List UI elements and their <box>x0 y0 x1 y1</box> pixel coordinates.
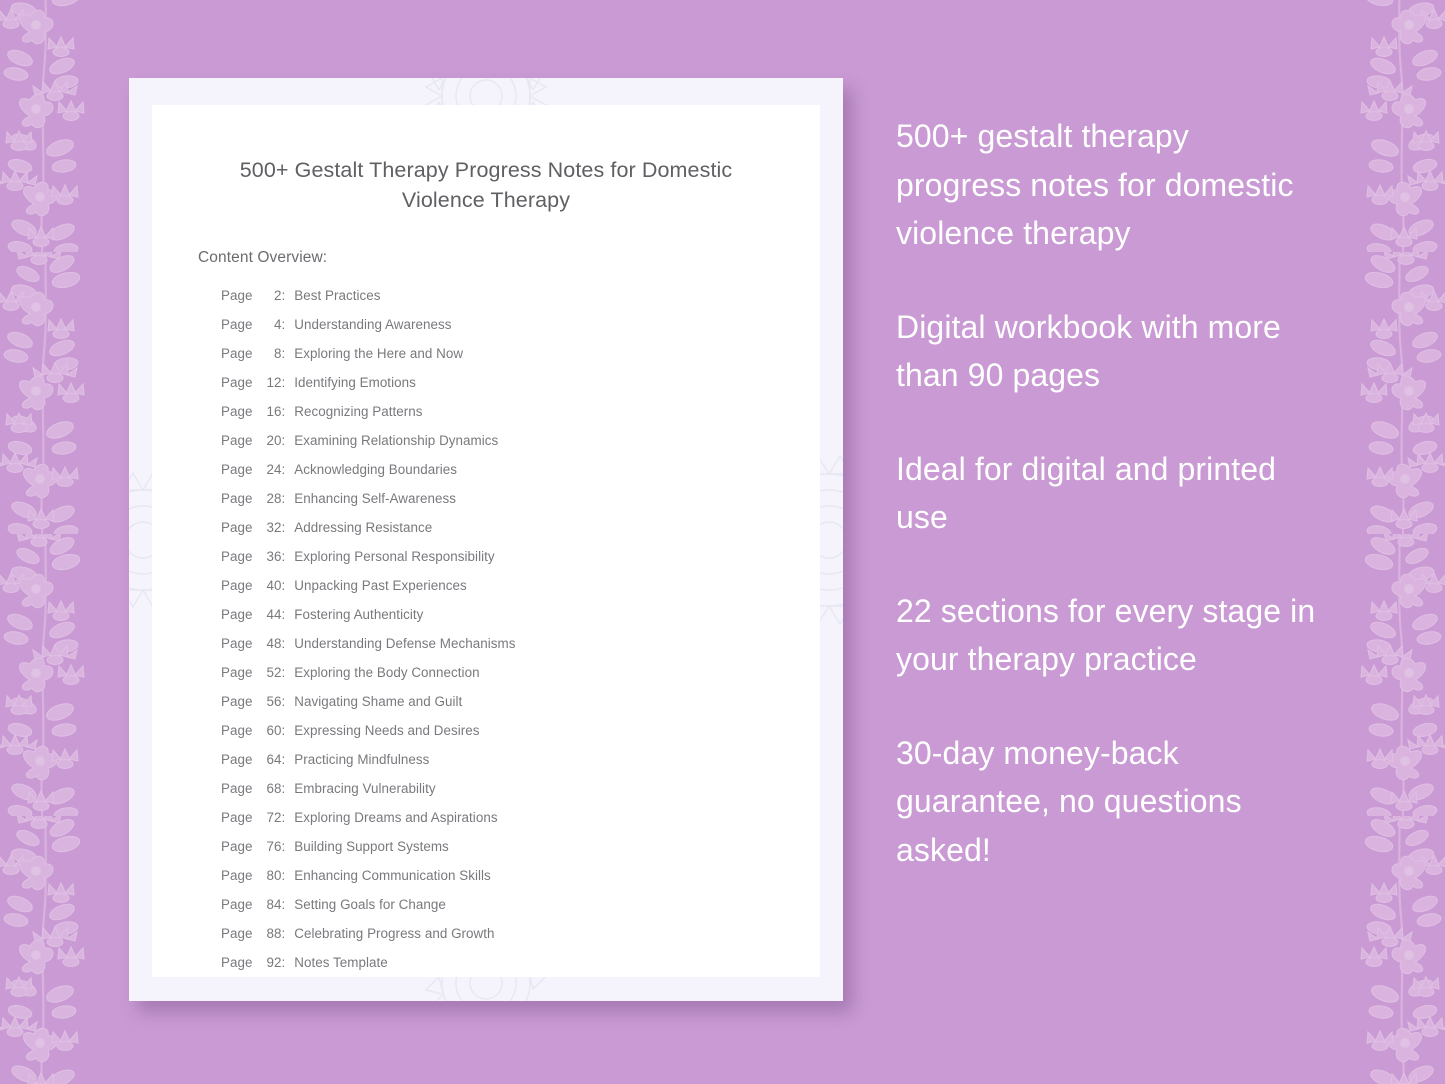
toc-item[interactable]: Page8:Exploring the Here and Now <box>221 339 820 368</box>
toc-item[interactable]: Page60:Expressing Needs and Desires <box>221 716 820 745</box>
promo-feature-list: 500+ gestalt therapy progress notes for … <box>896 112 1316 874</box>
toc-separator: : <box>281 368 285 397</box>
toc-section-title: Expressing Needs and Desires <box>294 716 479 745</box>
toc-page-word: Page <box>221 339 252 368</box>
toc-separator: : <box>281 716 285 745</box>
toc-item[interactable]: Page24:Acknowledging Boundaries <box>221 455 820 484</box>
toc-page-word: Page <box>221 629 252 658</box>
toc-separator: : <box>281 687 285 716</box>
promo-feature-item: 500+ gestalt therapy progress notes for … <box>896 112 1316 258</box>
toc-separator: : <box>281 919 285 948</box>
toc-section-title: Addressing Resistance <box>294 513 432 542</box>
toc-item[interactable]: Page20:Examining Relationship Dynamics <box>221 426 820 455</box>
toc-item[interactable]: Page76:Building Support Systems <box>221 832 820 861</box>
toc-page-number: 32 <box>256 513 281 542</box>
toc-page-word: Page <box>221 455 252 484</box>
toc-item[interactable]: Page68:Embracing Vulnerability <box>221 774 820 803</box>
toc-separator: : <box>281 861 285 890</box>
toc-item[interactable]: Page84:Setting Goals for Change <box>221 890 820 919</box>
toc-item[interactable]: Page48:Understanding Defense Mechanisms <box>221 629 820 658</box>
toc-page-word: Page <box>221 310 252 339</box>
floral-vine-icon <box>1345 534 1445 816</box>
toc-page-number: 80 <box>256 861 281 890</box>
toc-separator: : <box>281 513 285 542</box>
toc-page-number: 92 <box>256 948 281 977</box>
toc-page-word: Page <box>221 513 252 542</box>
toc-section-title: Enhancing Communication Skills <box>294 861 491 890</box>
floral-vine-icon <box>1345 816 1445 1084</box>
toc-page-number: 72 <box>256 803 281 832</box>
toc-section-title: Exploring the Body Connection <box>294 658 479 687</box>
toc-page-word: Page <box>221 281 252 310</box>
toc-section-title: Examining Relationship Dynamics <box>294 426 498 455</box>
toc-page-word: Page <box>221 716 252 745</box>
toc-section-title: Fostering Authenticity <box>294 600 423 629</box>
toc-separator: : <box>281 629 285 658</box>
toc-section-title: Recognizing Patterns <box>294 397 422 426</box>
toc-item[interactable]: Page88:Celebrating Progress and Growth <box>221 919 820 948</box>
promo-feature-item: Ideal for digital and printed use <box>896 445 1316 542</box>
toc-page-word: Page <box>221 426 252 455</box>
content-overview-label: Content Overview: <box>198 249 820 267</box>
toc-item[interactable]: Page32:Addressing Resistance <box>221 513 820 542</box>
toc-page-number: 2 <box>256 281 281 310</box>
toc-page-number: 56 <box>256 687 281 716</box>
page-title: 500+ Gestalt Therapy Progress Notes for … <box>204 155 768 215</box>
toc-separator: : <box>281 455 285 484</box>
toc-page-number: 60 <box>256 716 281 745</box>
toc-page-number: 88 <box>256 919 281 948</box>
toc-section-title: Best Practices <box>294 281 380 310</box>
toc-item[interactable]: Page64:Practicing Mindfulness <box>221 745 820 774</box>
toc-separator: : <box>281 774 285 803</box>
toc-separator: : <box>281 948 285 977</box>
toc-item[interactable]: Page2:Best Practices <box>221 281 820 310</box>
floral-vine-icon <box>0 0 100 252</box>
floral-vine-icon <box>0 816 100 1084</box>
toc-page-number: 64 <box>256 745 281 774</box>
toc-item[interactable]: Page52:Exploring the Body Connection <box>221 658 820 687</box>
toc-page-word: Page <box>221 658 252 687</box>
toc-section-title: Building Support Systems <box>294 832 449 861</box>
toc-item[interactable]: Page12:Identifying Emotions <box>221 368 820 397</box>
toc-section-title: Acknowledging Boundaries <box>294 455 457 484</box>
toc-page-word: Page <box>221 803 252 832</box>
toc-page-word: Page <box>221 861 252 890</box>
toc-page-number: 44 <box>256 600 281 629</box>
toc-page-word: Page <box>221 542 252 571</box>
toc-page-number: 8 <box>256 339 281 368</box>
toc-page-number: 40 <box>256 571 281 600</box>
left-floral-border <box>0 0 100 1084</box>
toc-item[interactable]: Page92:Notes Template <box>221 948 820 977</box>
toc-section-title: Setting Goals for Change <box>294 890 446 919</box>
toc-page-word: Page <box>221 948 252 977</box>
toc-item[interactable]: Page80:Enhancing Communication Skills <box>221 861 820 890</box>
toc-page-word: Page <box>221 832 252 861</box>
toc-page-number: 52 <box>256 658 281 687</box>
toc-section-title: Understanding Awareness <box>294 310 451 339</box>
toc-item[interactable]: Page4:Understanding Awareness <box>221 310 820 339</box>
toc-page-word: Page <box>221 890 252 919</box>
toc-page-number: 28 <box>256 484 281 513</box>
toc-page-word: Page <box>221 687 252 716</box>
toc-page-number: 4 <box>256 310 281 339</box>
floral-vine-icon <box>0 252 100 534</box>
toc-page-word: Page <box>221 397 252 426</box>
toc-page-number: 68 <box>256 774 281 803</box>
toc-separator: : <box>281 281 285 310</box>
toc-page-word: Page <box>221 745 252 774</box>
toc-section-title: Identifying Emotions <box>294 368 416 397</box>
toc-page-number: 48 <box>256 629 281 658</box>
toc-item[interactable]: Page44:Fostering Authenticity <box>221 600 820 629</box>
toc-separator: : <box>281 658 285 687</box>
toc-separator: : <box>281 484 285 513</box>
toc-separator: : <box>281 426 285 455</box>
toc-section-title: Exploring Dreams and Aspirations <box>294 803 497 832</box>
toc-separator: : <box>281 310 285 339</box>
toc-separator: : <box>281 832 285 861</box>
toc-page-number: 84 <box>256 890 281 919</box>
toc-separator: : <box>281 890 285 919</box>
toc-item[interactable]: Page72:Exploring Dreams and Aspirations <box>221 803 820 832</box>
toc-page-number: 24 <box>256 455 281 484</box>
toc-page-number: 36 <box>256 542 281 571</box>
toc-item[interactable]: Page36:Exploring Personal Responsibility <box>221 542 820 571</box>
toc-section-title: Embracing Vulnerability <box>294 774 435 803</box>
right-floral-border <box>1345 0 1445 1084</box>
toc-separator: : <box>281 397 285 426</box>
toc-separator: : <box>281 571 285 600</box>
toc-separator: : <box>281 803 285 832</box>
document-preview-card[interactable]: 500+ Gestalt Therapy Progress Notes for … <box>129 78 843 1001</box>
toc-item[interactable]: Page16:Recognizing Patterns <box>221 397 820 426</box>
floral-vine-icon <box>1345 252 1445 534</box>
document-page: 500+ Gestalt Therapy Progress Notes for … <box>152 105 820 977</box>
floral-vine-icon <box>0 534 100 816</box>
toc-section-title: Unpacking Past Experiences <box>294 571 467 600</box>
toc-page-word: Page <box>221 368 252 397</box>
toc-page-word: Page <box>221 919 252 948</box>
toc-page-word: Page <box>221 600 252 629</box>
toc-section-title: Celebrating Progress and Growth <box>294 919 494 948</box>
toc-section-title: Notes Template <box>294 948 388 977</box>
toc-section-title: Enhancing Self-Awareness <box>294 484 456 513</box>
toc-page-number: 20 <box>256 426 281 455</box>
toc-separator: : <box>281 542 285 571</box>
toc-section-title: Exploring the Here and Now <box>294 339 463 368</box>
toc-section-title: Exploring Personal Responsibility <box>294 542 494 571</box>
floral-vine-icon <box>1345 0 1445 252</box>
promo-feature-item: 30-day money-back guarantee, no question… <box>896 729 1316 875</box>
toc-page-word: Page <box>221 484 252 513</box>
toc-section-title: Understanding Defense Mechanisms <box>294 629 515 658</box>
toc-section-title: Practicing Mindfulness <box>294 745 429 774</box>
toc-item[interactable]: Page56:Navigating Shame and Guilt <box>221 687 820 716</box>
table-of-contents: Page2:Best PracticesPage4:Understanding … <box>221 281 820 977</box>
toc-separator: : <box>281 339 285 368</box>
toc-section-title: Navigating Shame and Guilt <box>294 687 462 716</box>
toc-page-number: 76 <box>256 832 281 861</box>
toc-separator: : <box>281 745 285 774</box>
toc-item[interactable]: Page28:Enhancing Self-Awareness <box>221 484 820 513</box>
toc-page-word: Page <box>221 571 252 600</box>
toc-item[interactable]: Page40:Unpacking Past Experiences <box>221 571 820 600</box>
toc-page-word: Page <box>221 774 252 803</box>
promo-feature-item: Digital workbook with more than 90 pages <box>896 303 1316 400</box>
toc-page-number: 12 <box>256 368 281 397</box>
promo-feature-item: 22 sections for every stage in your ther… <box>896 587 1316 684</box>
toc-separator: : <box>281 600 285 629</box>
toc-page-number: 16 <box>256 397 281 426</box>
